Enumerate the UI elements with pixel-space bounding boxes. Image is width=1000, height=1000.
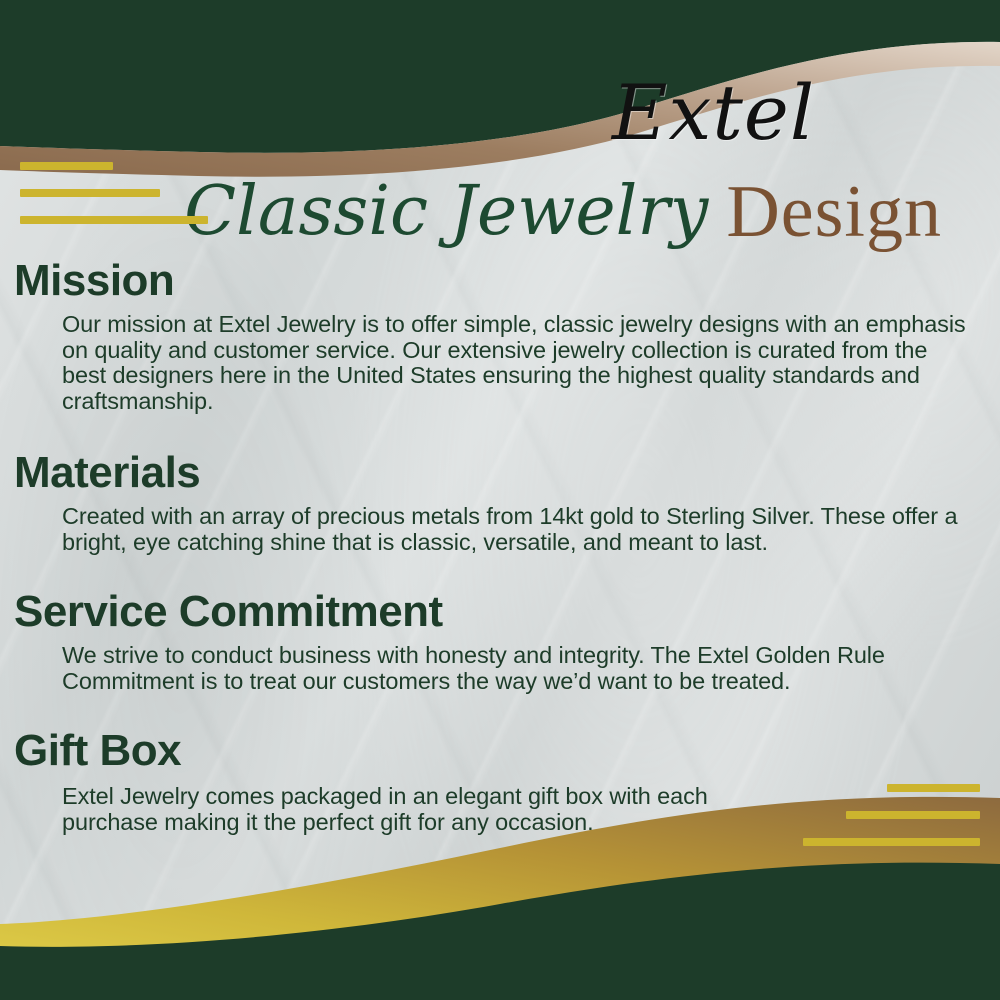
brand-logo: Extel: [612, 68, 972, 158]
section-heading-mission: Mission: [14, 256, 974, 306]
section-gift-box: Gift Box Extel Jewelry comes packaged in…: [14, 726, 974, 835]
title-design: Design: [726, 173, 942, 251]
title-classic-jewelry: Classic Jewelry: [184, 173, 708, 251]
gold-rule-1: [20, 162, 113, 170]
section-materials: Materials Created with an array of preci…: [14, 448, 974, 555]
section-heading-materials: Materials: [14, 448, 974, 498]
section-body-mission: Our mission at Extel Jewelry is to offer…: [62, 312, 974, 414]
gold-rule-6: [803, 838, 980, 846]
content-sections: Mission Our mission at Extel Jewelry is …: [14, 256, 974, 835]
section-body-materials: Created with an array of precious metals…: [62, 504, 974, 555]
section-heading-service-commitment: Service Commitment: [14, 587, 974, 637]
gold-rule-2: [20, 189, 160, 197]
section-service-commitment: Service Commitment We strive to conduct …: [14, 587, 974, 694]
gold-rule-3: [20, 216, 208, 224]
poster-canvas: Extel Classic Jewelry Design Mission Our…: [0, 0, 1000, 1000]
section-heading-gift-box: Gift Box: [14, 726, 974, 776]
section-mission: Mission Our mission at Extel Jewelry is …: [14, 256, 974, 414]
left-gold-rules: [20, 162, 208, 243]
section-body-gift-box: Extel Jewelry comes packaged in an elega…: [62, 784, 782, 835]
section-body-service-commitment: We strive to conduct business with hones…: [62, 643, 974, 694]
